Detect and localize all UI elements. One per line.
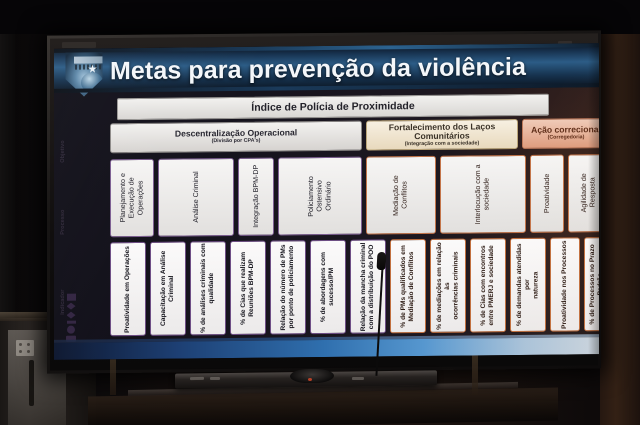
capability-label-1: Planejamento e Execução de Operações	[119, 173, 145, 223]
presentation-slide: Metas para prevenção da violência Objeti…	[54, 43, 599, 360]
capability-box-5: Mediação de Conflitos	[366, 156, 436, 235]
indicator-box-5: Relação do número de PMs por ponto de po…	[270, 240, 306, 334]
indicator-label-13: % de Processos no Prazo Padrão	[589, 244, 599, 324]
tv-stand-leg-left	[110, 355, 116, 395]
indicator-box-3: % de análises criminais com qualidade	[190, 241, 226, 335]
index-title-label: Índice de Polícia de Proximidade	[251, 100, 414, 114]
indicator-box-13: % de Processos no Prazo Padrão	[584, 237, 599, 331]
wall-wood-panel-right	[600, 0, 640, 425]
capability-label-3: Integração BPM-DP	[252, 165, 261, 228]
pillar-acao-correcional: Ação correcional (Corregedoria)	[522, 118, 599, 149]
capability-row: Planejamento e Execução de OperaçõesAnál…	[110, 154, 599, 237]
capability-box-6: Interlocução com a sociedade	[440, 155, 526, 234]
capability-box-4: Policiamento Ostensivo Ordinário	[278, 157, 362, 236]
pillar-lacos-title: Fortalecimento dos Laços Comunitários	[369, 122, 515, 141]
indicator-box-8: % de PMs qualificados em Mediação de Con…	[390, 239, 426, 333]
tv-stand-leg-right	[472, 355, 478, 395]
indicator-label-3: % de análises criminais com qualidade	[200, 243, 216, 333]
indicator-label-12: Proatividade nos Processos	[561, 240, 569, 328]
soundbar-camera-lens	[290, 369, 334, 384]
indicator-box-10: % de Cias com encontros entre PMERJ e so…	[470, 238, 506, 332]
capability-label-6: Interlocução com a sociedade	[474, 164, 491, 224]
capability-box-1: Planejamento e Execução de Operações	[110, 159, 154, 237]
indicator-box-4: % de Cias que realizam Reuniões BPM-DP	[230, 241, 266, 335]
capability-label-4: Policiamento Ostensivo Ordinário	[307, 176, 333, 217]
pillar-acao-subtitle: (Corregedoria)	[548, 135, 585, 141]
capability-label-2: Análise Criminal	[192, 172, 201, 223]
indicator-box-1: Proatividade em Operações	[110, 242, 146, 336]
pillar-header-row: Descentralização Operacional (Divisão po…	[110, 118, 599, 153]
circle-icon	[67, 326, 75, 334]
indicator-label-8: % de PMs qualificados em Mediação de Con…	[400, 245, 416, 328]
indicator-box-6: % de abordagens com sucesso/PM	[310, 240, 346, 334]
capability-box-8: Agilidade de Resposta	[568, 154, 599, 232]
axis-label-processo: Processo	[60, 191, 82, 253]
tv-brand-mark	[62, 42, 96, 48]
indicator-box-12: Proatividade nos Processos	[550, 237, 580, 331]
indicator-label-1: Proatividade em Operações	[124, 246, 132, 333]
soundbar-button-1[interactable]	[190, 377, 204, 380]
indicator-label-4: % de Cias que realizam Reuniões BPM-DP	[240, 251, 256, 324]
soundbar-button-2[interactable]	[210, 377, 220, 380]
diamond-icon-2	[67, 312, 76, 319]
indicator-label-6: % de abordagens com sucesso/PM	[320, 252, 336, 322]
microphone-head	[377, 252, 387, 270]
indicator-label-7: Relação da mancha criminal com a distrib…	[360, 242, 376, 331]
indicator-row: Proatividade em OperaçõesCapacitação em …	[110, 237, 599, 336]
cabinet-handle[interactable]	[29, 360, 34, 406]
pillar-lacos-comunitarios: Fortalecimento dos Laços Comunitários (I…	[366, 119, 518, 151]
crest-banner	[74, 56, 110, 63]
capability-box-3: Integração BPM-DP	[238, 158, 274, 236]
capability-box-2: Análise Criminal	[158, 158, 234, 237]
capability-box-7: Proatividade	[530, 155, 564, 233]
room-scene: Metas para prevenção da violência Objeti…	[0, 0, 640, 425]
indicator-label-5: Relação do número de PMs por ponto de po…	[280, 244, 296, 330]
indicator-box-9: % de mediações em relação às ocorrências…	[430, 239, 466, 333]
pillar-lacos-subtitle: (Integração com a sociedade)	[405, 141, 479, 147]
indicator-box-2: Capacitação em Análise Criminal	[150, 241, 186, 335]
capability-label-5: Mediação de Conflitos	[392, 175, 409, 216]
diamond-icon	[67, 303, 76, 310]
ceiling-shadow	[0, 0, 640, 34]
indicator-label-2: Capacitação em Análise Criminal	[160, 251, 176, 326]
grid-icon	[67, 294, 76, 301]
pillar-acao-title: Ação correcional	[531, 126, 599, 135]
capability-label-8: Agilidade de Resposta	[580, 174, 597, 213]
soundbar-button-3[interactable]	[352, 377, 364, 380]
status-led	[308, 378, 312, 381]
bar-icon	[67, 321, 76, 324]
indicator-box-11: % de demandas atendidas por natureza	[510, 238, 546, 332]
indicator-label-9: % de mediações em relação às ocorrências…	[436, 240, 461, 332]
axis-label-objetivo: Objetivo	[60, 121, 82, 183]
index-title-bar: Índice de Polícia de Proximidade	[117, 94, 549, 121]
pillar-descentralizacao-subtitle: (Divisão por CPA's)	[212, 139, 261, 145]
wall-switch-plate[interactable]	[16, 340, 34, 356]
pillar-descentralizacao: Descentralização Operacional (Divisão po…	[110, 121, 362, 154]
slide-header-bar: Metas para prevenção da violência	[54, 43, 599, 93]
capability-label-7: Proatividade	[543, 174, 552, 214]
indicator-label-11: % de demandas atendidas por natureza	[516, 239, 541, 331]
indicator-label-10: % de Cias com encontros entre PMERJ e so…	[480, 245, 496, 325]
